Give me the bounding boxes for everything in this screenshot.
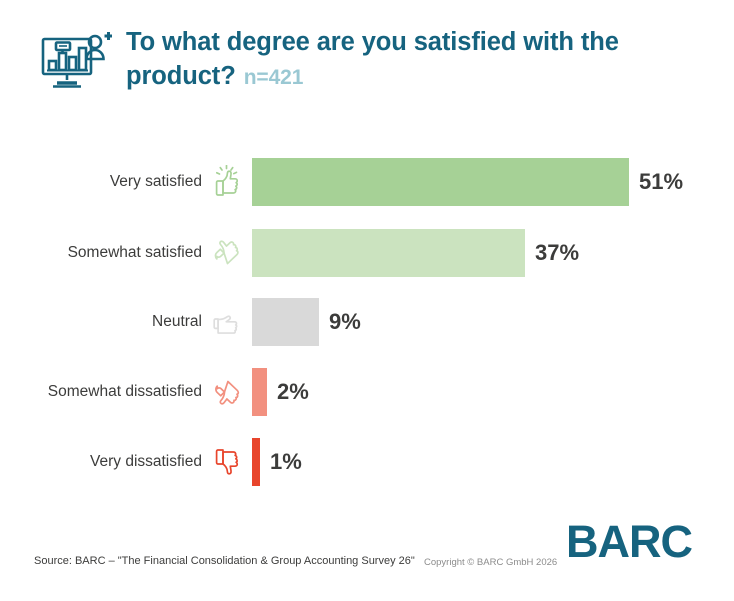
category-label: Somewhat satisfied xyxy=(0,244,210,262)
page-title: To what degree are you satisfied with th… xyxy=(126,26,686,94)
bar-container: 9% xyxy=(252,298,734,346)
bar-value-label: 2% xyxy=(277,379,309,405)
bar-chart: Very satisfied 51% Somewhat satis xyxy=(0,140,734,495)
chart-footer: Source: BARC – "The Financial Consolidat… xyxy=(0,511,734,601)
sample-size-label: n=421 xyxy=(244,66,304,89)
chart-row: Neutral 9% xyxy=(0,298,734,346)
category-label: Neutral xyxy=(0,313,210,331)
thumbs-down-icon xyxy=(210,442,244,482)
bar-container: 2% xyxy=(252,368,734,416)
copyright-text: Copyright © BARC GmbH 2026 xyxy=(424,557,557,568)
source-text: Source: BARC – "The Financial Consolidat… xyxy=(34,555,415,567)
thumbs-up-sparkle-icon xyxy=(210,162,244,202)
chart-row: Somewhat dissatisfied 2% xyxy=(0,368,734,416)
chart-row: Very satisfied 51% xyxy=(0,158,734,206)
bar-value-label: 51% xyxy=(639,169,683,195)
chart-row: Very dissatisfied 1% xyxy=(0,438,734,486)
barc-logo: BARC xyxy=(566,519,692,564)
category-label: Very satisfied xyxy=(0,173,210,191)
page-title-text: To what degree are you satisfied with th… xyxy=(126,28,619,90)
chart-row: Somewhat satisfied 37% xyxy=(0,229,734,277)
bar-very-satisfied xyxy=(252,158,629,206)
monitor-bar-chart-person-plus-icon xyxy=(40,29,112,93)
bar-very-dissatisfied xyxy=(252,438,260,486)
chart-header: To what degree are you satisfied with th… xyxy=(0,0,734,120)
bar-value-label: 1% xyxy=(270,449,302,475)
bar-somewhat-dissatisfied xyxy=(252,368,267,416)
category-label: Somewhat dissatisfied xyxy=(0,383,210,401)
thumbs-up-tilted-icon xyxy=(210,233,244,273)
bar-neutral xyxy=(252,298,319,346)
bar-value-label: 9% xyxy=(329,309,361,335)
hand-sideways-icon xyxy=(210,302,244,342)
bar-value-label: 37% xyxy=(535,240,579,266)
bar-container: 1% xyxy=(252,438,734,486)
bar-somewhat-satisfied xyxy=(252,229,525,277)
thumbs-down-tilted-icon xyxy=(210,372,244,412)
bar-container: 37% xyxy=(252,229,734,277)
bar-container: 51% xyxy=(252,158,734,206)
category-label: Very dissatisfied xyxy=(0,453,210,471)
